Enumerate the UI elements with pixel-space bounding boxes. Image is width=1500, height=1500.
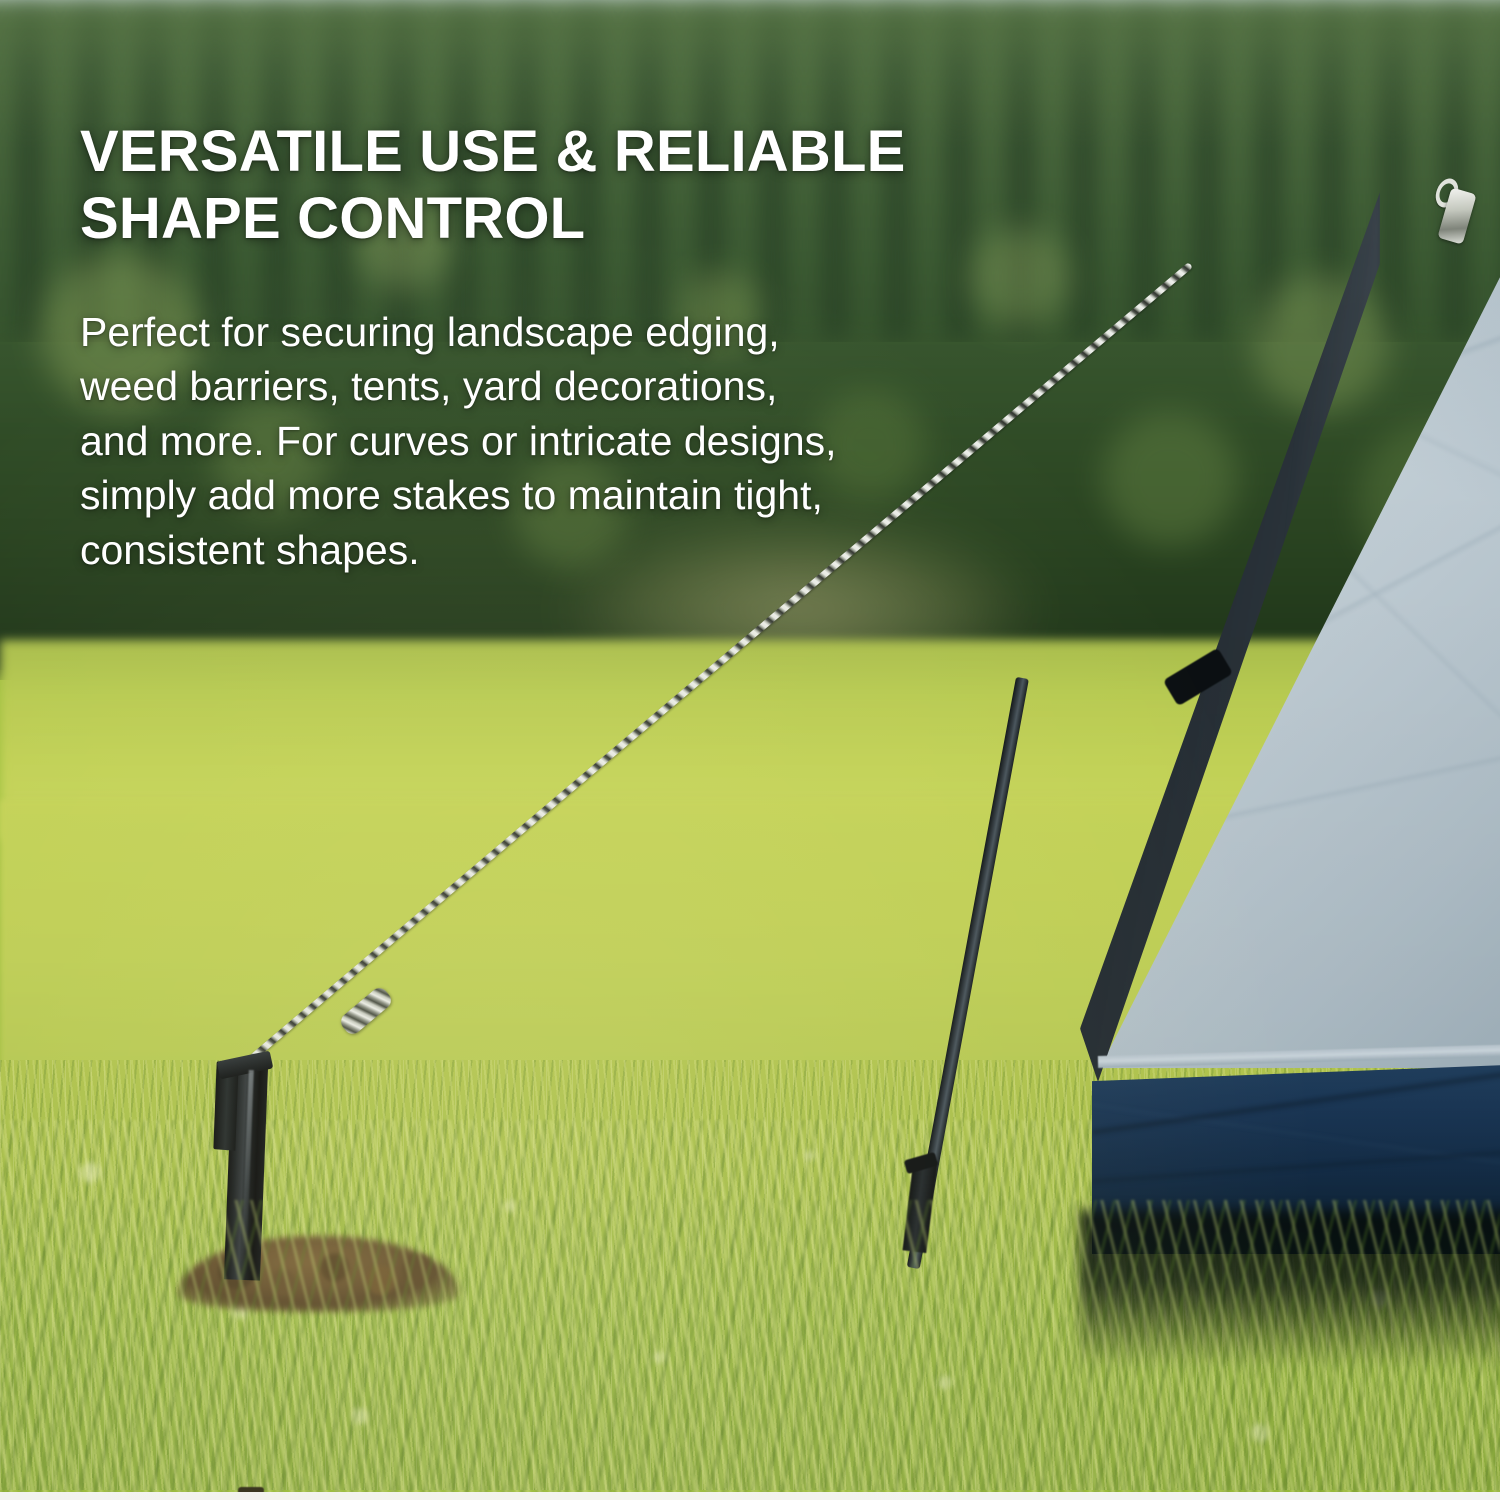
copy-block: VERSATILE USE & RELIABLE SHAPE CONTROL P… bbox=[80, 118, 1020, 577]
headline-line-2: SHAPE CONTROL bbox=[80, 185, 1010, 252]
page-title: VERSATILE USE & RELIABLE SHAPE CONTROL bbox=[80, 118, 1010, 253]
tent-ground-shadow bbox=[1080, 1210, 1500, 1370]
bottom-white-strip bbox=[0, 1492, 1500, 1500]
body-paragraph: Perfect for securing landscape edging, w… bbox=[80, 305, 850, 578]
camping-tent bbox=[980, 170, 1500, 1310]
product-feature-banner: VERSATILE USE & RELIABLE SHAPE CONTROL P… bbox=[0, 0, 1500, 1500]
tent-fabric-wrinkles bbox=[1100, 218, 1500, 1068]
headline-line-1: VERSATILE USE & RELIABLE bbox=[80, 118, 1010, 185]
